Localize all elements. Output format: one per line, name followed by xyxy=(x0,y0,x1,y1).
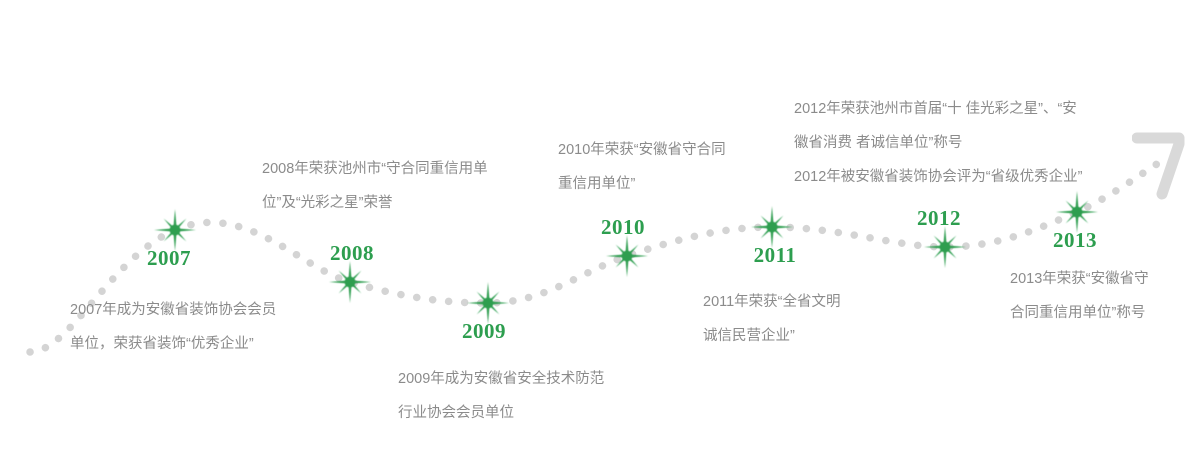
description-line: 2012年荣获池州市首届“十 佳光彩之星”、“安 xyxy=(794,92,1082,126)
description-line: 诚信民营企业” xyxy=(703,319,841,353)
year-label-2008: 2008 xyxy=(330,241,374,266)
year-label-2010: 2010 xyxy=(601,215,645,240)
year-label-2013: 2013 xyxy=(1053,228,1097,253)
milestone-description-2010: 2010年荣获“安徽省守合同重信用单位” xyxy=(558,133,726,201)
milestone-description-2012: 2012年荣获池州市首届“十 佳光彩之星”、“安徽省消费 者诚信单位”称号201… xyxy=(794,92,1082,194)
milestone-description-2007: 2007年成为安徽省装饰协会会员单位，荣获省装饰“优秀企业” xyxy=(70,293,276,361)
description-line: 2010年荣获“安徽省守合同 xyxy=(558,133,726,167)
year-label-2009: 2009 xyxy=(462,319,506,344)
year-label-2012: 2012 xyxy=(917,206,961,231)
description-line: 2009年成为安徽省安全技术防范 xyxy=(398,362,604,396)
description-line: 位”及“光彩之星”荣誉 xyxy=(262,186,488,220)
year-label-2007: 2007 xyxy=(147,246,191,271)
description-line: 2013年荣获“安徽省守 xyxy=(1010,262,1149,296)
year-label-2011: 2011 xyxy=(754,243,797,268)
milestone-description-2011: 2011年荣获“全省文明诚信民营企业” xyxy=(703,285,841,353)
description-line: 2012年被安徽省装饰协会评为“省级优秀企业” xyxy=(794,160,1082,194)
description-line: 2007年成为安徽省装饰协会会员 xyxy=(70,293,276,327)
arrow-head-icon xyxy=(1132,128,1188,200)
description-line: 徽省消费 者诚信单位”称号 xyxy=(794,126,1082,160)
description-line: 合同重信用单位”称号 xyxy=(1010,296,1149,330)
description-line: 重信用单位” xyxy=(558,167,726,201)
description-line: 2011年荣获“全省文明 xyxy=(703,285,841,319)
description-line: 行业协会会员单位 xyxy=(398,396,604,430)
description-line: 2008年荣获池州市“守合同重信用单 xyxy=(262,152,488,186)
milestone-description-2009: 2009年成为安徽省安全技术防范行业协会会员单位 xyxy=(398,362,604,430)
timeline-infographic: 2007200820092010201120122013 2007年成为安徽省装… xyxy=(0,0,1200,465)
milestone-description-2013: 2013年荣获“安徽省守合同重信用单位”称号 xyxy=(1010,262,1149,330)
description-line: 单位，荣获省装饰“优秀企业” xyxy=(70,327,276,361)
milestone-description-2008: 2008年荣获池州市“守合同重信用单位”及“光彩之星”荣誉 xyxy=(262,152,488,220)
